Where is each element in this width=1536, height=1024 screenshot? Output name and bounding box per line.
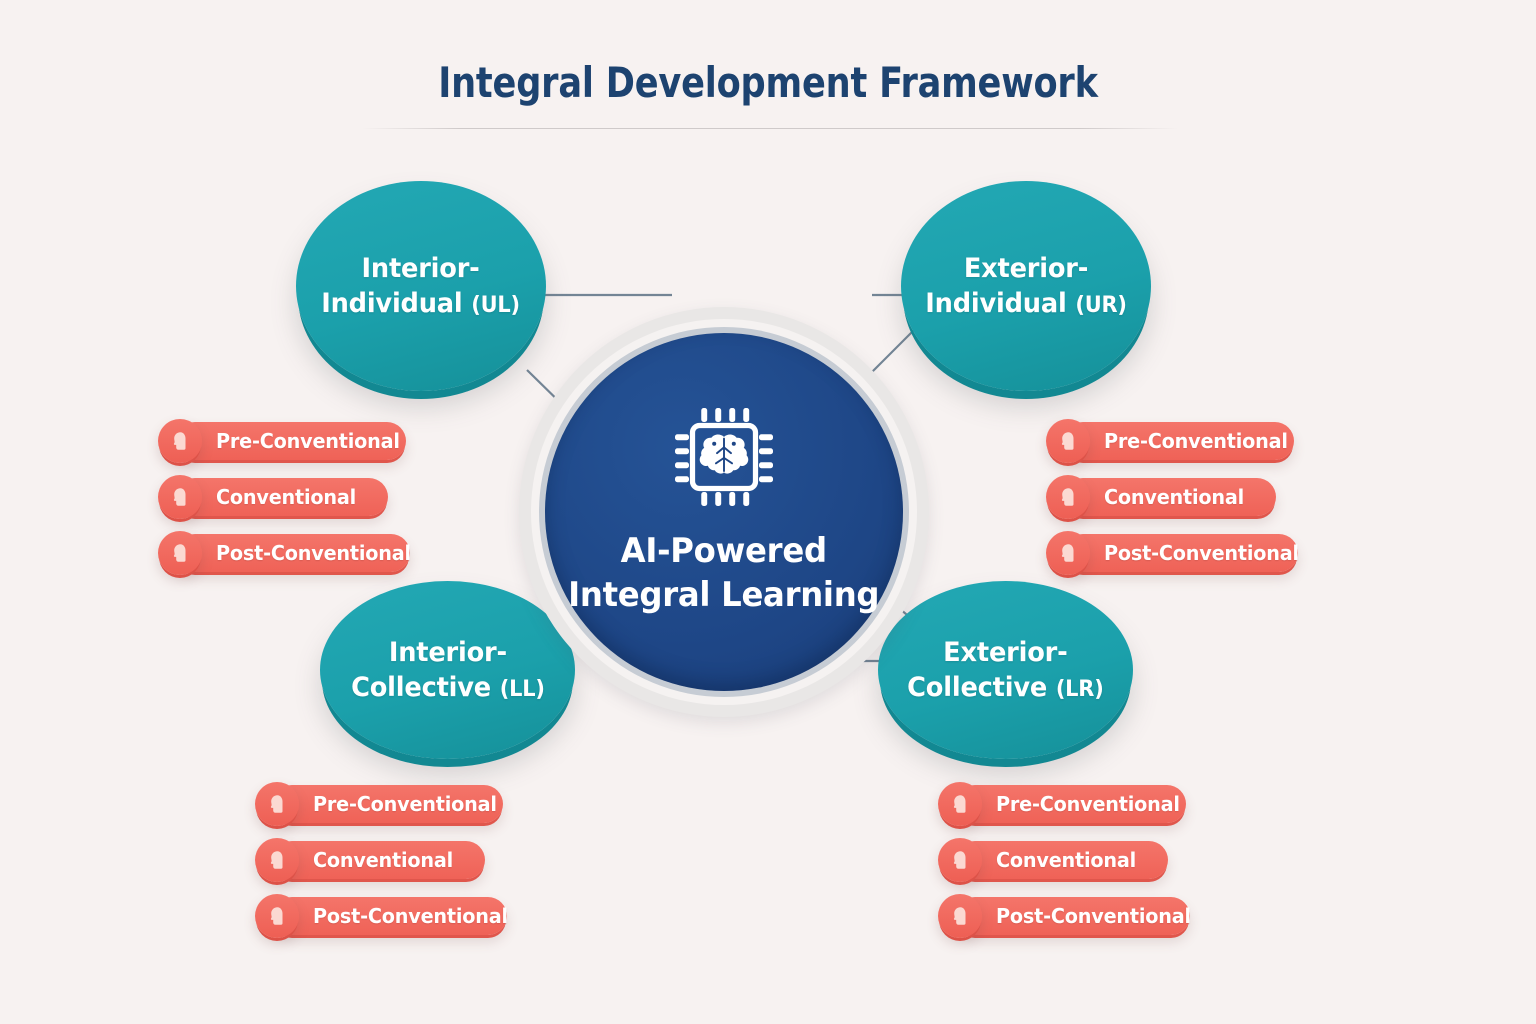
hub-label-line2: Integral Learning bbox=[568, 574, 879, 618]
person-head-icon bbox=[255, 838, 299, 882]
stage-pill[interactable]: Conventional bbox=[255, 841, 516, 879]
hub-label-line1: AI-Powered bbox=[568, 530, 879, 574]
quadrant-label-line2: Individual bbox=[925, 288, 1066, 319]
stage-pill-label: Conventional bbox=[1104, 485, 1244, 509]
quadrant-code: (UL) bbox=[472, 293, 521, 318]
quadrant-label: Interior- Collective (LL) bbox=[351, 635, 545, 705]
person-head-icon bbox=[1046, 475, 1090, 519]
hub-inner-ring: AI-Powered Integral Learning bbox=[539, 327, 909, 697]
quadrant-interior-individual[interactable]: Interior- Individual (UL) bbox=[296, 181, 546, 391]
stage-pill[interactable]: Post-Conventional bbox=[938, 897, 1199, 935]
person-head-icon bbox=[158, 475, 202, 519]
person-head-icon bbox=[1046, 531, 1090, 575]
quadrant-exterior-collective[interactable]: Exterior- Collective (LR) bbox=[878, 581, 1133, 759]
stage-list-interior-individual: Pre-Conventional Conventional Post-Conve… bbox=[158, 422, 419, 590]
person-head-icon bbox=[1046, 419, 1090, 463]
stage-pill[interactable]: Post-Conventional bbox=[255, 897, 516, 935]
hub-outer-ring: AI-Powered Integral Learning bbox=[531, 319, 917, 705]
center-hub[interactable]: AI-Powered Integral Learning bbox=[519, 307, 929, 717]
quadrant-label-line2: Individual bbox=[322, 288, 463, 319]
quadrant-code: (LL) bbox=[499, 677, 544, 702]
stage-pill[interactable]: Conventional bbox=[158, 478, 419, 516]
quadrant-code: (UR) bbox=[1075, 293, 1126, 318]
hub-core: AI-Powered Integral Learning bbox=[545, 333, 903, 691]
quadrant-label: Exterior- Individual (UR) bbox=[925, 251, 1126, 321]
stage-pill-label: Conventional bbox=[996, 848, 1136, 872]
stage-pill[interactable]: Pre-Conventional bbox=[158, 422, 419, 460]
person-head-icon bbox=[938, 782, 982, 826]
stage-pill[interactable]: Pre-Conventional bbox=[938, 785, 1199, 823]
quadrant-exterior-individual[interactable]: Exterior- Individual (UR) bbox=[901, 181, 1151, 391]
stage-pill-label: Post-Conventional bbox=[313, 904, 508, 928]
quadrant-interior-collective[interactable]: Interior- Collective (LL) bbox=[320, 581, 575, 759]
stage-pill-label: Post-Conventional bbox=[1104, 541, 1299, 565]
stage-list-exterior-individual: Pre-Conventional Conventional Post-Conve… bbox=[1046, 422, 1307, 590]
stage-pill-label: Pre-Conventional bbox=[313, 792, 497, 816]
person-head-icon bbox=[158, 419, 202, 463]
quadrant-label-line1: Exterior- bbox=[907, 635, 1103, 670]
stage-pill-label: Pre-Conventional bbox=[1104, 429, 1288, 453]
diagram-canvas: Integral Development Framework Interior-… bbox=[0, 0, 1536, 1024]
stage-list-interior-collective: Pre-Conventional Conventional Post-Conve… bbox=[255, 785, 516, 953]
stage-pill-label: Post-Conventional bbox=[216, 541, 411, 565]
person-head-icon bbox=[255, 782, 299, 826]
stage-list-exterior-collective: Pre-Conventional Conventional Post-Conve… bbox=[938, 785, 1199, 953]
stage-pill-label: Pre-Conventional bbox=[216, 429, 400, 453]
person-head-icon bbox=[255, 894, 299, 938]
hub-label: AI-Powered Integral Learning bbox=[568, 530, 879, 617]
stage-pill-label: Pre-Conventional bbox=[996, 792, 1180, 816]
stage-pill-label: Post-Conventional bbox=[996, 904, 1191, 928]
stage-pill[interactable]: Pre-Conventional bbox=[255, 785, 516, 823]
person-head-icon bbox=[158, 531, 202, 575]
stage-pill-label: Conventional bbox=[313, 848, 453, 872]
stage-pill[interactable]: Post-Conventional bbox=[1046, 534, 1307, 572]
quadrant-label-line1: Interior- bbox=[351, 635, 545, 670]
stage-pill[interactable]: Post-Conventional bbox=[158, 534, 419, 572]
quadrant-label-line1: Exterior- bbox=[925, 251, 1126, 286]
quadrant-label-line2: Collective bbox=[351, 672, 491, 703]
ai-chip-brain-icon bbox=[668, 401, 780, 518]
stage-pill[interactable]: Conventional bbox=[1046, 478, 1307, 516]
stage-pill[interactable]: Pre-Conventional bbox=[1046, 422, 1307, 460]
quadrant-label-line2: Collective bbox=[907, 672, 1047, 703]
person-head-icon bbox=[938, 894, 982, 938]
quadrant-label: Interior- Individual (UL) bbox=[322, 251, 521, 321]
person-head-icon bbox=[938, 838, 982, 882]
quadrant-label: Exterior- Collective (LR) bbox=[907, 635, 1103, 705]
quadrant-label-line1: Interior- bbox=[322, 251, 521, 286]
quadrant-code: (LR) bbox=[1056, 677, 1104, 702]
stage-pill-label: Conventional bbox=[216, 485, 356, 509]
stage-pill[interactable]: Conventional bbox=[938, 841, 1199, 879]
